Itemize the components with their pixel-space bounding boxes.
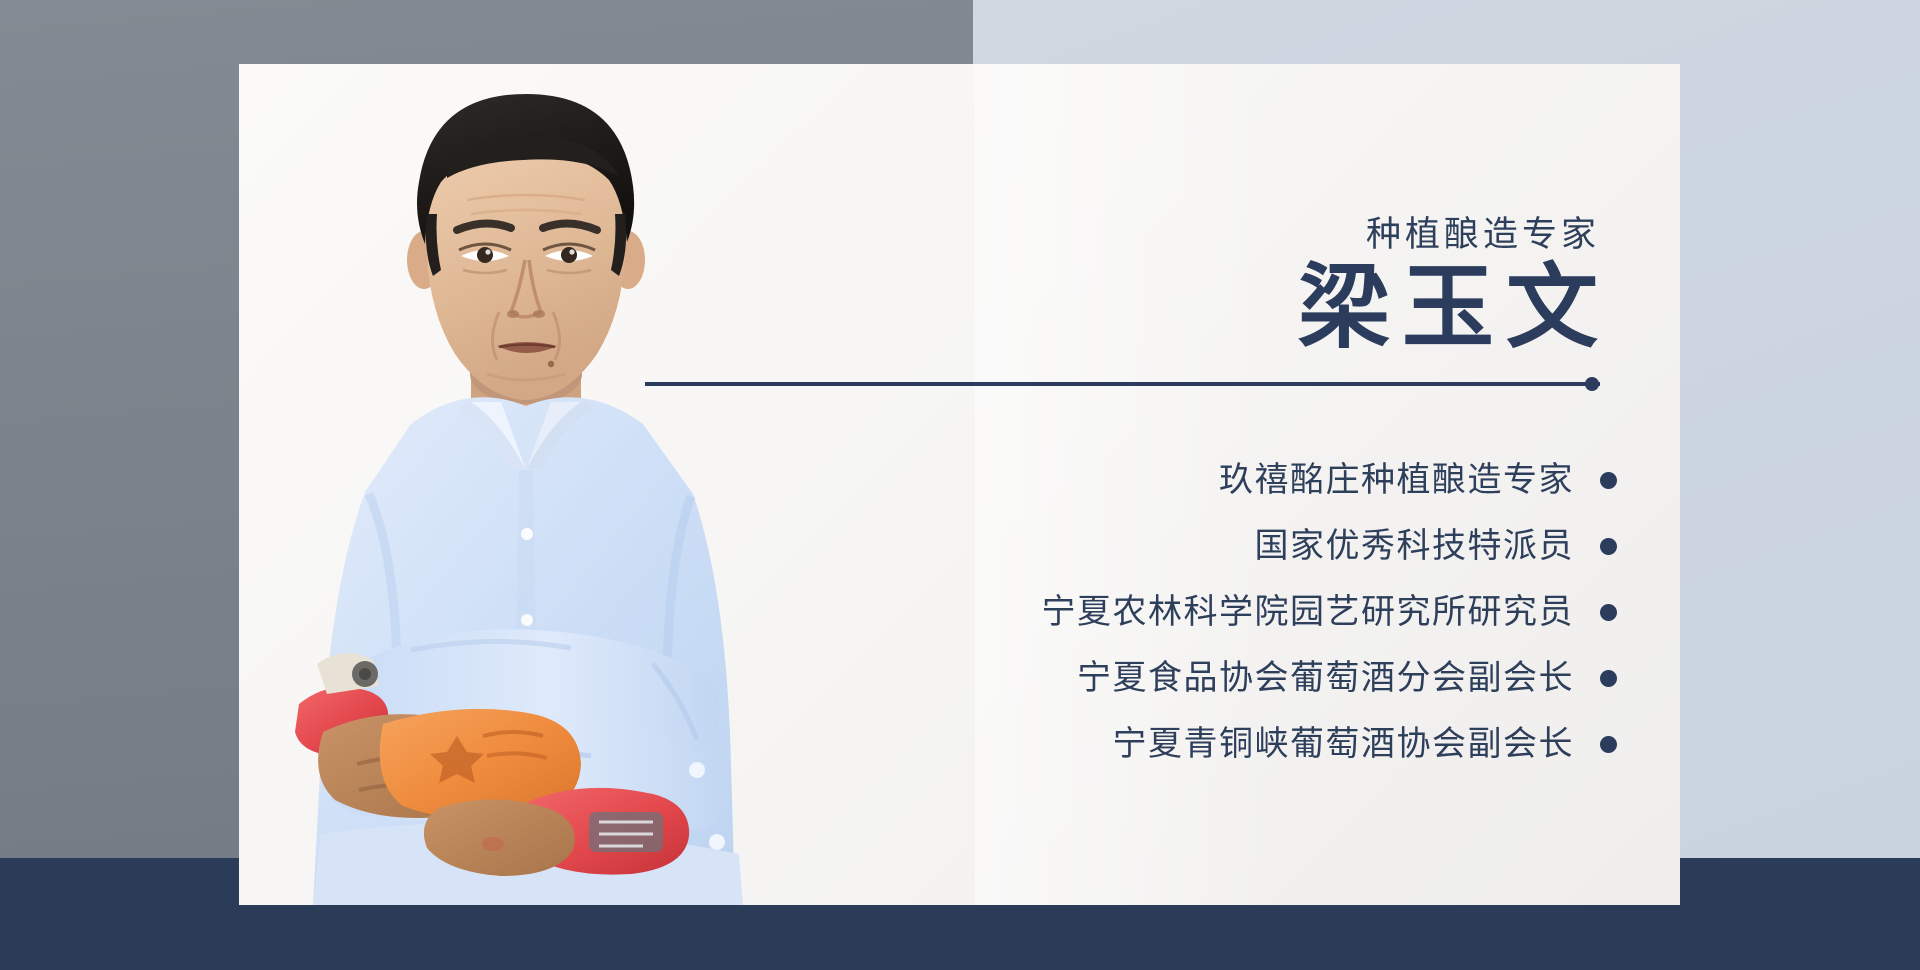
list-item: 国家优秀科技特派员	[717, 513, 1617, 579]
credential-text: 宁夏食品协会葡萄酒分会副会长	[1077, 661, 1574, 695]
horizontal-divider	[645, 382, 1600, 386]
credential-text: 国家优秀科技特派员	[1255, 529, 1575, 563]
credential-text: 宁夏农林科学院园艺研究所研究员	[1042, 595, 1575, 629]
divider-end-dot-icon	[1585, 377, 1599, 391]
expert-name: 梁玉文	[1298, 260, 1610, 357]
profile-card: 种植酿造专家 梁玉文 玖禧酩庄种植酿造专家 国家优秀科技特派员 宁夏农林科学院园…	[239, 64, 1680, 905]
bullet-dot-icon	[1600, 604, 1617, 621]
list-item: 玖禧酩庄种植酿造专家	[717, 447, 1617, 513]
credential-text: 宁夏青铜峡葡萄酒协会副会长	[1113, 727, 1575, 761]
expert-profile-banner: 种植酿造专家 梁玉文 玖禧酩庄种植酿造专家 国家优秀科技特派员 宁夏农林科学院园…	[0, 0, 1920, 970]
list-item: 宁夏食品协会葡萄酒分会副会长	[717, 645, 1617, 711]
credential-text: 玖禧酩庄种植酿造专家	[1219, 463, 1574, 497]
expert-subtitle: 种植酿造专家	[1366, 217, 1600, 252]
bullet-dot-icon	[1600, 670, 1617, 687]
bullet-dot-icon	[1600, 472, 1617, 489]
list-item: 宁夏青铜峡葡萄酒协会副会长	[717, 711, 1617, 777]
credentials-list: 玖禧酩庄种植酿造专家 国家优秀科技特派员 宁夏农林科学院园艺研究所研究员 宁夏食…	[717, 447, 1617, 777]
list-item: 宁夏农林科学院园艺研究所研究员	[717, 579, 1617, 645]
bullet-dot-icon	[1600, 538, 1617, 555]
bullet-dot-icon	[1600, 736, 1617, 753]
